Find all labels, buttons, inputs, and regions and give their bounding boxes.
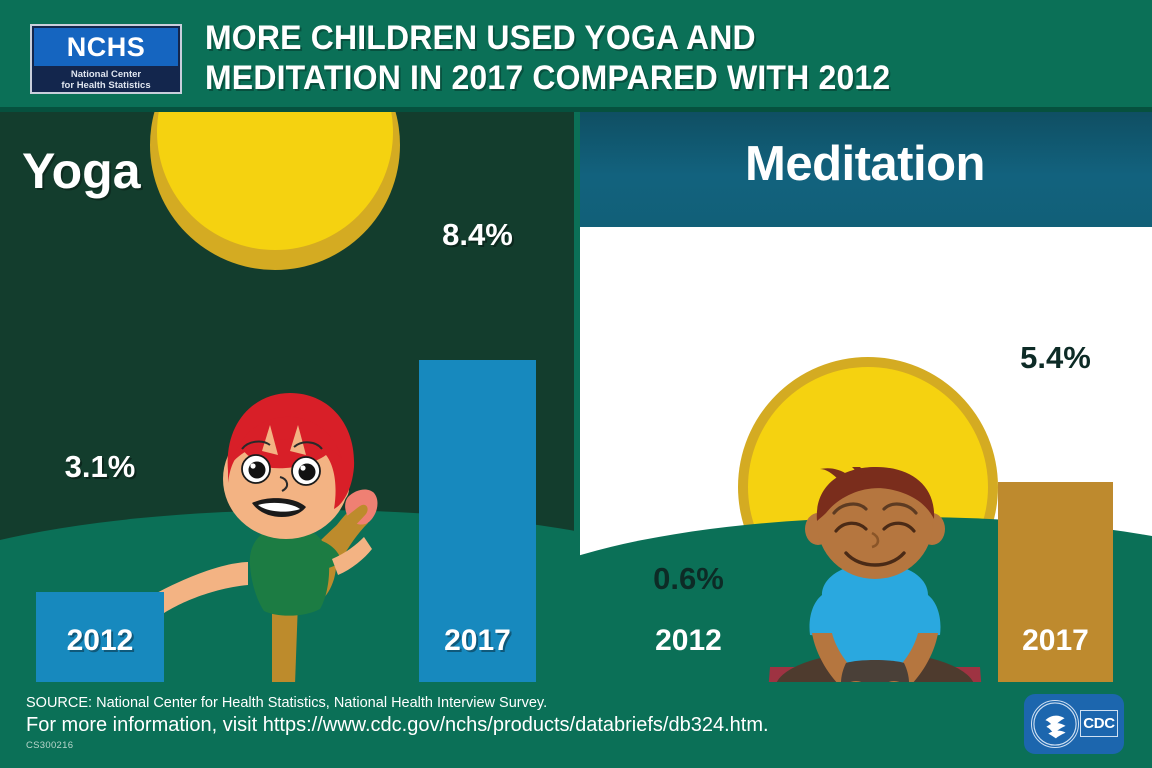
cs-number: CS300216	[26, 740, 73, 751]
source-text: SOURCE: National Center for Health Stati…	[26, 694, 547, 712]
nchs-logo-line1: National Center	[71, 69, 141, 80]
panel-meditation-title: Meditation	[578, 138, 1152, 190]
bar-category-meditation-2017: 2017	[993, 624, 1118, 658]
page-title-line2: MEDITATION IN 2017 COMPARED WITH 2012	[205, 58, 1084, 98]
cdc-wordmark: CDC	[1083, 716, 1115, 731]
nchs-logo: NCHS National Center for Health Statisti…	[30, 24, 182, 94]
footer-bar: SOURCE: National Center for Health Stati…	[0, 682, 1152, 768]
nchs-acronym: NCHS	[67, 34, 146, 61]
bar-value-meditation-2017: 5.4%	[993, 340, 1118, 376]
cdc-logo[interactable]: CDC	[1024, 694, 1124, 754]
page-title: MORE CHILDREN USED YOGA AND MEDITATION I…	[205, 18, 1084, 98]
nchs-logo-line2: for Health Statistics	[61, 80, 150, 91]
hhs-seal-icon	[1031, 700, 1079, 748]
cdc-wordmark-box: CDC	[1080, 710, 1118, 737]
bar-value-meditation-2012: 0.6%	[626, 561, 751, 597]
infographic-root: NCHS National Center for Health Statisti…	[0, 0, 1152, 768]
girl-yoga-tree-pose-icon	[120, 367, 420, 682]
header-bar: NCHS National Center for Health Statisti…	[0, 0, 1152, 110]
boy-meditating-icon	[760, 467, 990, 682]
panel-yoga-title: Yoga	[22, 144, 141, 198]
bar-value-yoga-2017: 8.4%	[410, 217, 545, 253]
bar-category-yoga-2017: 2017	[410, 624, 545, 658]
nchs-logo-subtitle-block: National Center for Health Statistics	[34, 68, 178, 92]
bar-category-yoga-2012: 2012	[36, 624, 164, 658]
page-title-line1: MORE CHILDREN USED YOGA AND	[205, 18, 1084, 58]
panel-yoga: Yoga	[0, 112, 578, 682]
nchs-logo-acronym-block: NCHS	[34, 28, 178, 66]
more-info-text: For more information, visit https://www.…	[26, 713, 769, 737]
bar-value-yoga-2012: 3.1%	[36, 449, 164, 485]
panel-meditation: Meditation	[578, 112, 1152, 682]
bar-category-meditation-2012: 2012	[626, 624, 751, 658]
panel-divider	[574, 112, 580, 682]
